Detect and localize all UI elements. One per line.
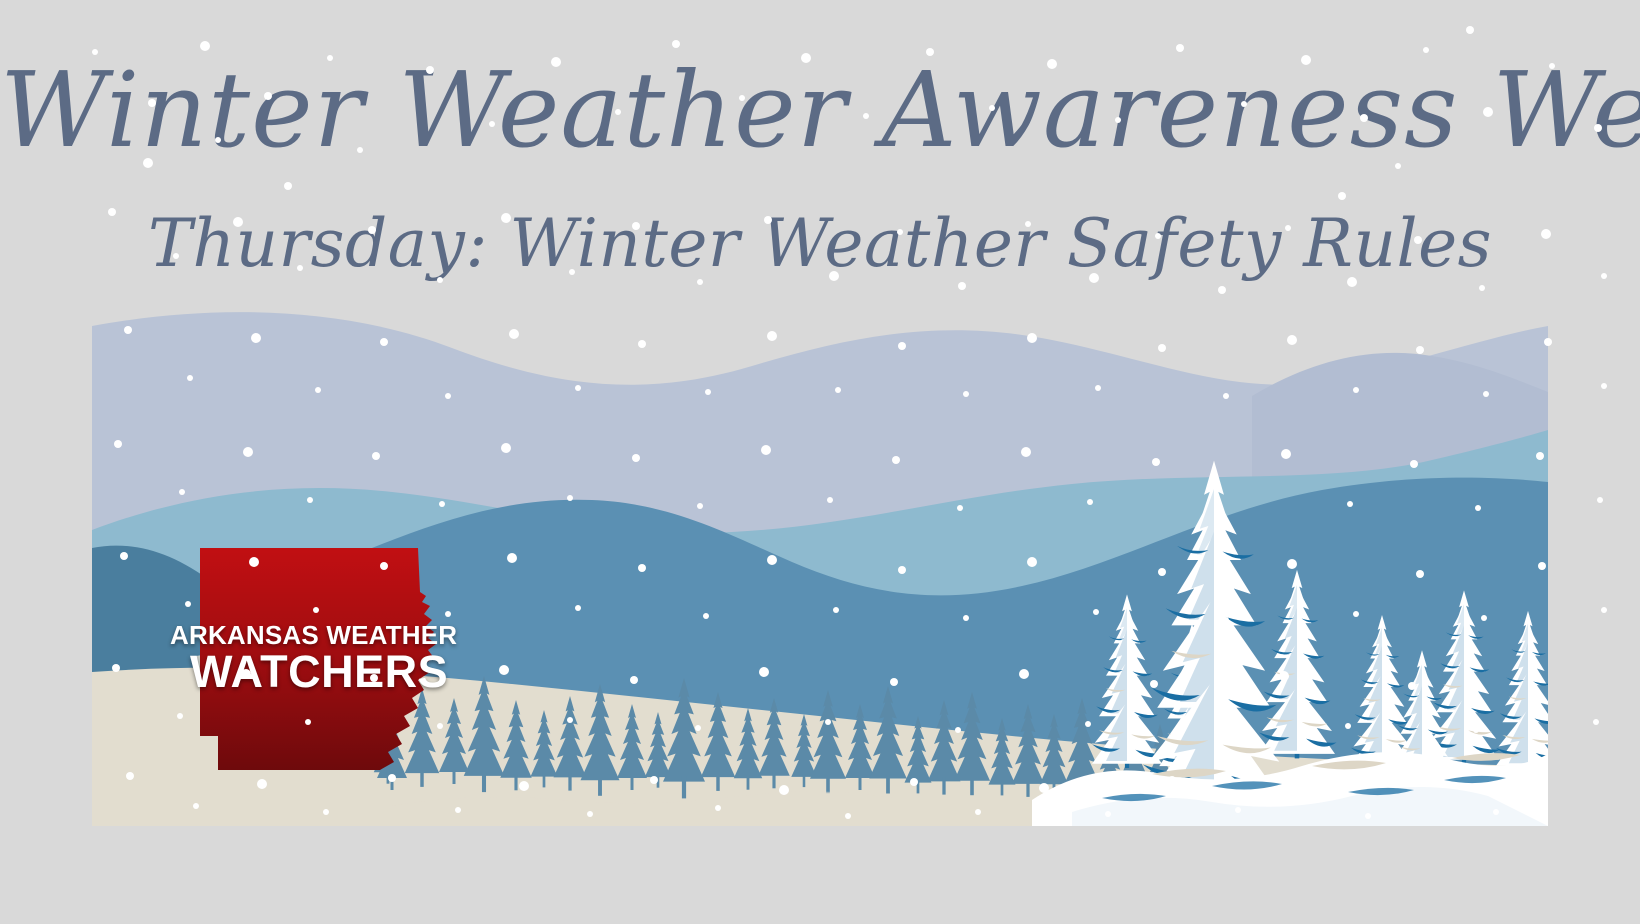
- logo-wordmark: ARKANSAS WEATHER WATCHERS: [170, 622, 476, 695]
- logo-line-watchers: WATCHERS: [170, 649, 476, 695]
- logo-line-arkansas-weather: ARKANSAS WEATHER: [170, 622, 476, 648]
- page-title: Winter Weather Awareness Week: [0, 54, 1640, 166]
- page-subtitle: Thursday: Winter Weather Safety Rules: [0, 208, 1640, 281]
- poster-canvas: Winter Weather Awareness Week Thursday: …: [0, 0, 1640, 924]
- arkansas-weather-watchers-logo[interactable]: ARKANSAS WEATHER WATCHERS: [178, 540, 468, 790]
